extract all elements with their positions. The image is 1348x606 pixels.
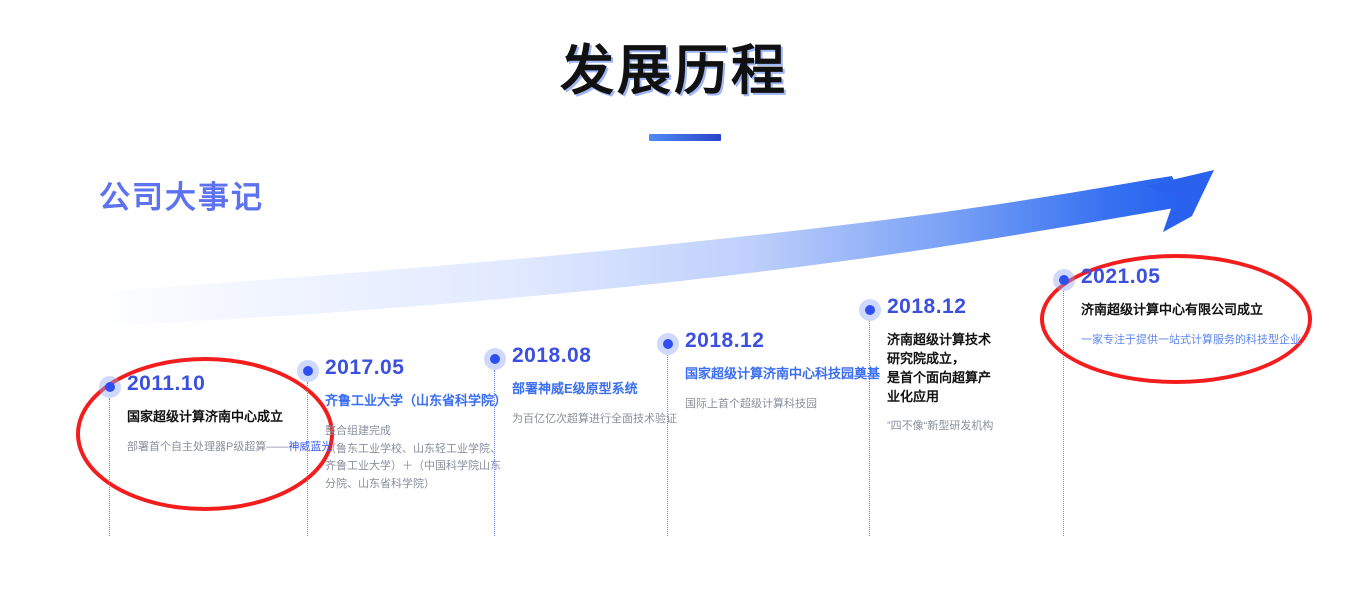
infographic-canvas: 发展历程 公司大事记 2011.10 国家超级计算济南中心 xyxy=(0,0,1348,606)
timeline-body: 2011.10 国家超级计算济南中心成立 部署首个自主处理器P级超算——神威蓝光 xyxy=(127,372,332,457)
timeline-stem-line xyxy=(667,355,668,536)
timeline-description-line: 部署首个自主处理器P级超算—— xyxy=(127,441,288,453)
timeline-headline: 国家超级计算济南中心科技园奠基 xyxy=(685,365,880,384)
timeline-description-line: 国际上首个超级计算科技园 xyxy=(685,396,880,414)
timeline-stem-line xyxy=(109,398,110,536)
timeline-headline: 国家超级计算济南中心成立 xyxy=(127,408,332,427)
timeline-headline: 齐鲁工业大学（山东省科学院） xyxy=(325,392,507,411)
timeline-body: 2018.08 部署神威E级原型系统 为百亿亿次超算进行全面技术验证 xyxy=(512,344,677,429)
timeline-year: 2017.05 xyxy=(325,356,507,379)
timeline-body: 2021.05 济南超级计算中心有限公司成立 一家专注于提供一站式计算服务的科技… xyxy=(1081,265,1301,350)
timeline-description-line: 一家专注于提供一站式计算服务的科技型企业 xyxy=(1081,332,1301,350)
timeline-description-line: （鲁东工业学校、山东轻工业学院、 xyxy=(325,441,507,459)
timeline-description: 整合组建完成 （鲁东工业学校、山东轻工业学院、 齐鲁工业大学）＋（中国科学院山东… xyxy=(325,423,507,493)
timeline-description-line: ”四不像“新型研发机构 xyxy=(887,418,993,436)
timeline-description: 为百亿亿次超算进行全面技术验证 xyxy=(512,411,677,429)
timeline-dot-icon xyxy=(484,348,506,370)
timeline-dot-icon xyxy=(859,299,881,321)
timeline-body: 2017.05 齐鲁工业大学（山东省科学院） 整合组建完成 （鲁东工业学校、山东… xyxy=(325,356,507,493)
timeline-description-line: 整合组建完成 xyxy=(325,423,507,441)
timeline-body: 2018.12 国家超级计算济南中心科技园奠基 国际上首个超级计算科技园 xyxy=(685,329,880,414)
timeline-year: 2018.12 xyxy=(887,295,993,318)
timeline-description-line: 齐鲁工业大学）＋（中国科学院山东 xyxy=(325,458,507,476)
section-subtitle: 公司大事记 xyxy=(99,172,264,217)
timeline-description-line: 为百亿亿次超算进行全面技术验证 xyxy=(512,411,677,429)
timeline-stem-line xyxy=(1063,291,1064,536)
timeline-headline: 济南超级计算技术研究院成立， 是首个面向超算产业化应用 xyxy=(887,331,993,406)
timeline-stem-line xyxy=(869,321,870,536)
timeline-description-line: 分院、山东省科学院） xyxy=(325,476,507,494)
timeline-stem-line xyxy=(307,382,308,536)
timeline-body: 2018.12 济南超级计算技术研究院成立， 是首个面向超算产业化应用 ”四不像… xyxy=(887,295,993,436)
timeline-description: 一家专注于提供一站式计算服务的科技型企业 xyxy=(1081,332,1301,350)
title-underline-bar xyxy=(649,134,721,141)
timeline-headline: 部署神威E级原型系统 xyxy=(512,380,677,399)
timeline-year: 2018.08 xyxy=(512,344,677,367)
timeline-stem-line xyxy=(494,370,495,536)
timeline-year: 2021.05 xyxy=(1081,265,1301,288)
timeline-year: 2018.12 xyxy=(685,329,880,352)
timeline-dot-icon xyxy=(1053,269,1075,291)
timeline-description: 国际上首个超级计算科技园 xyxy=(685,396,880,414)
timeline-dot-icon xyxy=(99,376,121,398)
page-title: 发展历程 xyxy=(0,42,1348,101)
timeline-description: ”四不像“新型研发机构 xyxy=(887,418,993,436)
timeline-dot-icon xyxy=(297,360,319,382)
timeline-description: 部署首个自主处理器P级超算——神威蓝光 xyxy=(127,439,332,457)
timeline-dot-icon xyxy=(657,333,679,355)
timeline-headline: 济南超级计算中心有限公司成立 xyxy=(1081,301,1301,320)
